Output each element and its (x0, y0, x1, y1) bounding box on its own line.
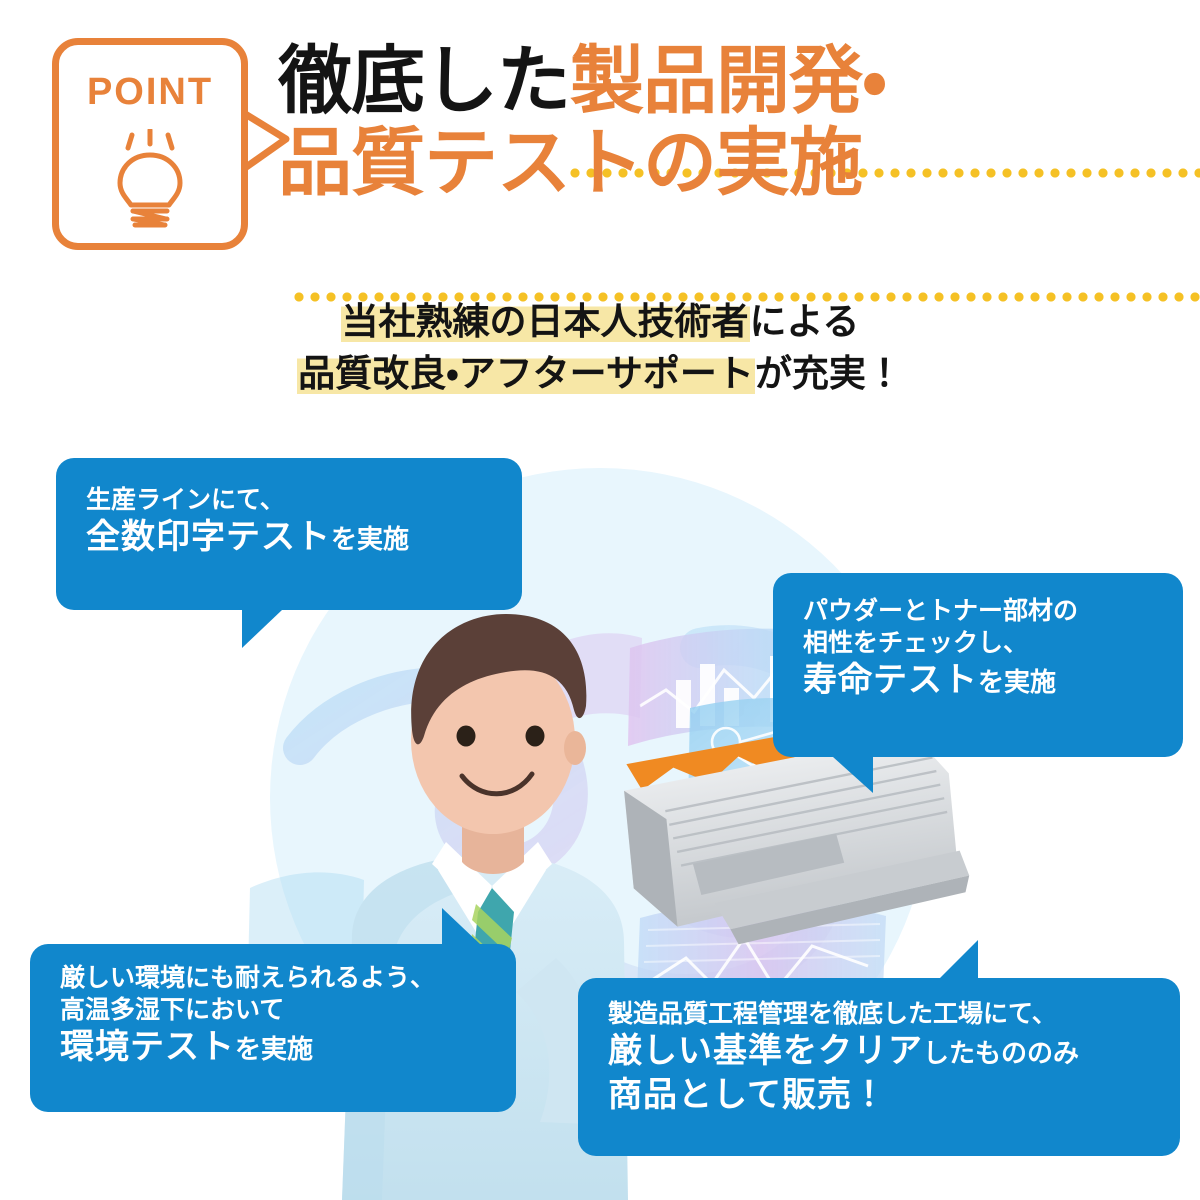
callout-life-test-line-1: パウダーとトナー部材の (803, 595, 1165, 627)
callout-life-test: パウダーとトナー部材の 相性をチェックし、 寿命テストを実施 (773, 573, 1183, 757)
callout-quality-standard-tail (940, 940, 978, 978)
callout-quality-standard-line-2: 厳しい基準をクリアしたもののみ (608, 1030, 1162, 1074)
subtitle: 当社熟練の日本人技術者による 品質改良・アフターサポートが充実！ (0, 296, 1200, 400)
subtitle-line-2-highlight: 品質改良・アフターサポート (297, 353, 755, 394)
subtitle-line-1-highlight: 当社熟練の日本人技術者 (341, 301, 750, 342)
callout-quality-standard-line-1: 製造品質工程管理を徹底した工場にて、 (608, 998, 1162, 1030)
callout-print-test-line-2: 全数印字テストを実施 (86, 516, 504, 560)
callout-environment-test-line-3: 環境テストを実施 (60, 1026, 498, 1070)
subtitle-line-1-rest: による (750, 301, 860, 342)
callout-quality-standard: 製造品質工程管理を徹底した工場にて、 厳しい基準をクリアしたもののみ 商品として… (578, 978, 1180, 1156)
eye-right (526, 726, 545, 747)
callout-print-test-line-1: 生産ラインにて、 (86, 484, 504, 516)
callout-quality-standard-line-3: 商品として販売！ (608, 1074, 1162, 1118)
page-title: 徹底した製品開発・ 品質テストの実施 (278, 40, 1178, 204)
infographic-page: POINT 徹底した製品開発・ 品質テストの実施 (0, 0, 1200, 1200)
point-badge: POINT (52, 38, 248, 250)
title-line-1: 徹底した製品開発・ (278, 40, 1178, 122)
callout-life-test-tail (833, 757, 873, 793)
title-line-1-orange: 製品開発・ (570, 39, 886, 122)
subtitle-line-1: 当社熟練の日本人技術者による (0, 296, 1200, 348)
callout-environment-test-tail (442, 908, 480, 944)
lightbulb-icon (102, 129, 198, 233)
eye-left (457, 726, 476, 747)
callout-print-test: 生産ラインにて、 全数印字テストを実施 (56, 458, 522, 610)
title-line-2: 品質テストの実施 (278, 122, 1178, 204)
callout-environment-test-line-1: 厳しい環境にも耐えられるよう、 (60, 962, 498, 994)
callout-life-test-line-2: 相性をチェックし、 (803, 627, 1165, 659)
callout-print-test-tail (242, 610, 282, 648)
title-line-1-black: 徹底した (278, 39, 570, 122)
point-badge-label: POINT (59, 71, 241, 114)
title-line-2-orange: 品質テストの実施 (278, 121, 862, 204)
subtitle-line-2: 品質改良・アフターサポートが充実！ (0, 348, 1200, 400)
callout-life-test-line-3: 寿命テストを実施 (803, 659, 1165, 703)
subtitle-line-2-rest: が充実！ (755, 353, 903, 394)
callout-environment-test-line-2: 高温多湿下において (60, 994, 498, 1026)
callout-environment-test: 厳しい環境にも耐えられるよう、 高温多湿下において 環境テストを実施 (30, 944, 516, 1112)
